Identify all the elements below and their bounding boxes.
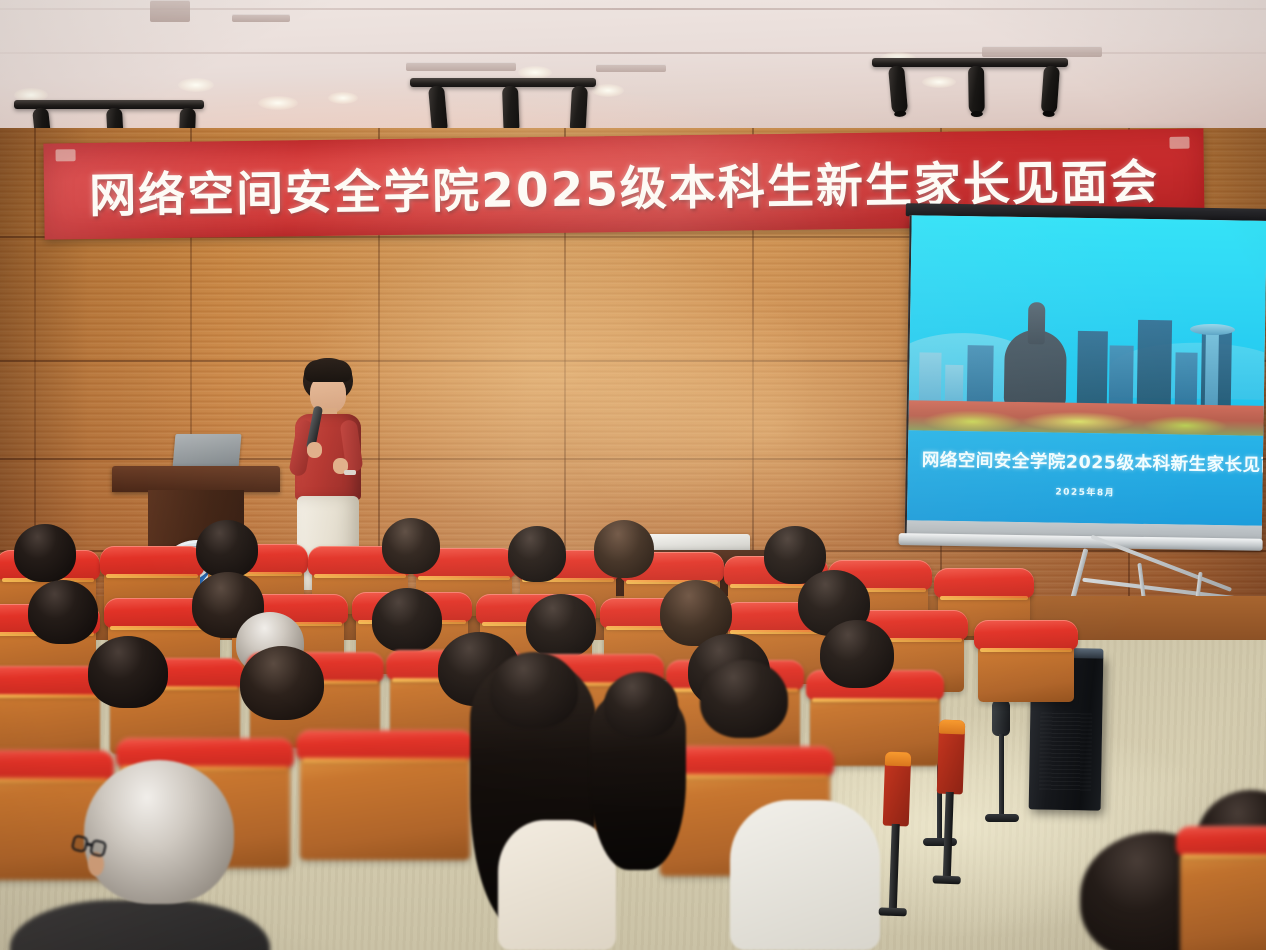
audience-head bbox=[14, 524, 76, 582]
armrest-foot bbox=[879, 907, 907, 916]
ceiling-downlight bbox=[328, 92, 358, 104]
ceiling-vent bbox=[406, 62, 516, 71]
ceiling-downlight bbox=[592, 84, 624, 97]
seat-armrest bbox=[937, 720, 966, 795]
wristwatch bbox=[344, 470, 356, 475]
ceiling-downlight bbox=[258, 96, 298, 110]
laptop bbox=[173, 434, 242, 468]
audience-head bbox=[820, 620, 894, 688]
audience-head-elderly bbox=[84, 760, 234, 904]
auditorium-seat[interactable] bbox=[978, 630, 1074, 702]
audience-head bbox=[28, 580, 98, 644]
slide-building bbox=[1175, 352, 1198, 408]
presenter-hand bbox=[307, 442, 322, 458]
audience-shoulder bbox=[730, 800, 880, 950]
audience-head bbox=[508, 526, 566, 582]
eyeglasses-lens bbox=[71, 834, 89, 853]
lectern-top bbox=[112, 466, 280, 492]
slide-title-bar: 网络空间安全学院2025级本科新生家长见面 2025年8月 bbox=[907, 430, 1263, 526]
ceiling-vent bbox=[232, 14, 290, 22]
auditorium-photo: 网络空间安全学院2025级本科生新生家长见面会 bbox=[0, 0, 1266, 950]
slide-monument-spire bbox=[1028, 302, 1046, 344]
auditorium-seat[interactable] bbox=[1180, 836, 1266, 950]
projection-screen: 网络空间安全学院2025级本科新生家长见面 2025年8月 bbox=[900, 203, 1266, 577]
screen-surface: 网络空间安全学院2025级本科新生家长见面 2025年8月 bbox=[905, 215, 1266, 541]
microphone-stand-base bbox=[985, 814, 1019, 822]
track-light-bar bbox=[872, 58, 1068, 67]
slide-building bbox=[1137, 320, 1172, 409]
slide-building bbox=[1077, 331, 1108, 407]
ceiling-vent bbox=[596, 64, 666, 72]
auditorium-seat[interactable] bbox=[300, 740, 470, 860]
audience-head bbox=[526, 594, 596, 658]
microphone-stand-pole bbox=[999, 734, 1004, 816]
ceiling-vent bbox=[982, 46, 1102, 57]
armrest-foot bbox=[933, 875, 961, 884]
slide-building bbox=[919, 352, 942, 402]
eyeglasses-bridge bbox=[87, 843, 92, 847]
audience-head bbox=[382, 518, 440, 574]
slide-title: 网络空间安全学院2025级本科新生家长见面 bbox=[922, 446, 1266, 477]
spotlight-icon bbox=[968, 66, 985, 114]
audience-head bbox=[372, 588, 442, 652]
spotlight-icon bbox=[502, 86, 520, 135]
ceiling-vent bbox=[150, 0, 190, 22]
slide-building bbox=[967, 345, 994, 403]
banner-tape bbox=[55, 149, 75, 161]
microphone-stand bbox=[992, 700, 1010, 736]
ceiling-downlight bbox=[178, 78, 214, 92]
slide: 网络空间安全学院2025级本科新生家长见面 2025年8月 bbox=[907, 215, 1266, 526]
audience-head bbox=[490, 652, 578, 728]
audience-head bbox=[594, 520, 654, 578]
audience-head bbox=[240, 646, 324, 720]
slide-building bbox=[945, 365, 964, 403]
audience-shoulder bbox=[498, 820, 616, 950]
spotlight-icon bbox=[1041, 65, 1060, 114]
presenter-hair-fringe bbox=[304, 360, 352, 382]
armrest-cap bbox=[885, 752, 911, 767]
armrest-cap bbox=[939, 720, 965, 735]
seat-armrest bbox=[883, 752, 912, 827]
audience-head bbox=[700, 660, 788, 738]
audience-head bbox=[88, 636, 168, 708]
ceiling-downlight bbox=[922, 76, 956, 88]
slide-date: 2025年8月 bbox=[1055, 485, 1115, 499]
slide-building bbox=[1109, 345, 1134, 407]
audience-head bbox=[604, 672, 678, 738]
speaker-grille bbox=[1039, 713, 1092, 792]
banner-tape bbox=[1169, 137, 1189, 149]
audience-head bbox=[196, 520, 258, 578]
